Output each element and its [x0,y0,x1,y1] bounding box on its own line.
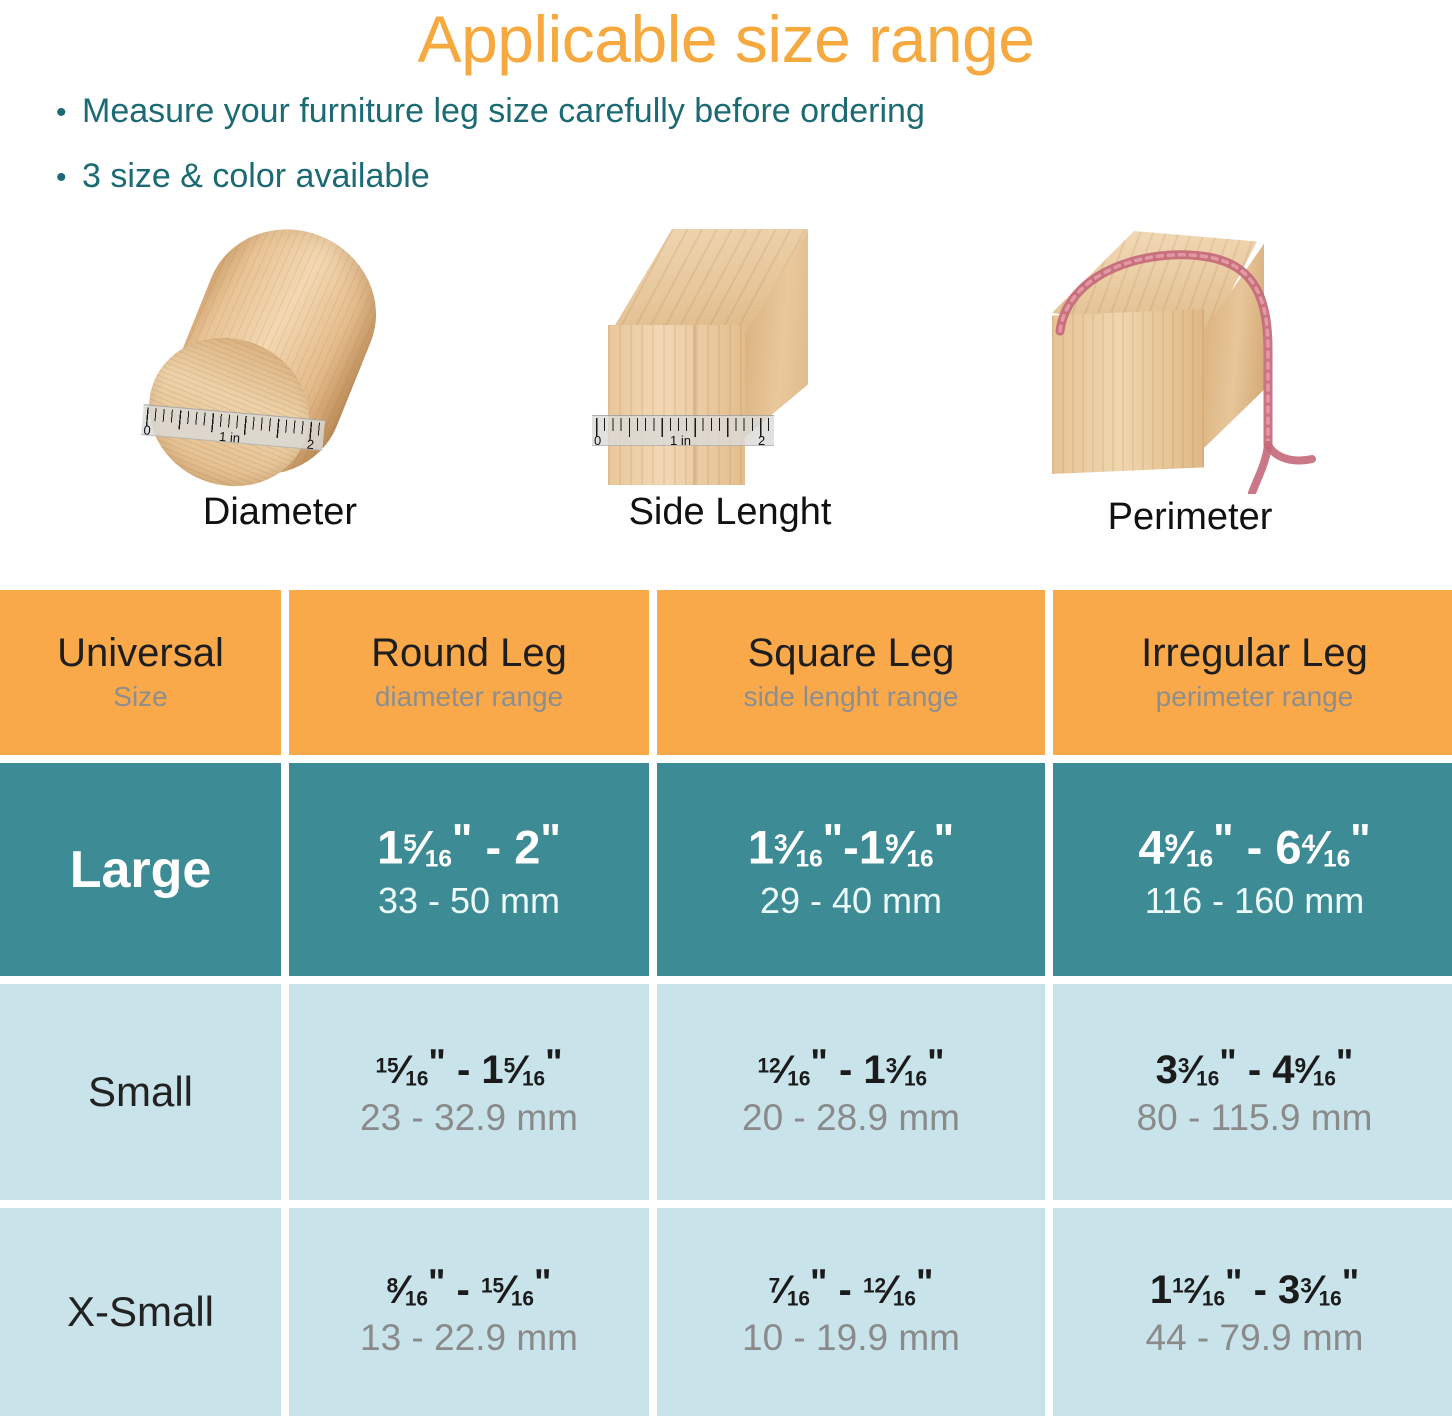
wood-cylinder-icon: 0 1 in 2 [130,219,430,489]
bullet-text: 3 size & color available [82,155,430,198]
bullet-item: • Measure your furniture leg size carefu… [56,90,1452,133]
value-inches: 33⁄16" - 49⁄16" [1156,1044,1354,1091]
header-sub: Size [113,679,167,714]
table-cell-small-round: 15⁄16" - 15⁄16" 23 - 32.9 mm [289,984,649,1200]
measurement-figures: 0 1 in 2 Diameter 0 1 in 2 [0,219,1452,559]
header-sub: side lenght range [744,679,959,714]
header-main: Irregular Leg [1141,631,1368,675]
header-main: Square Leg [748,631,955,675]
wood-square-block-icon: 0 1 in 2 [580,219,880,489]
table-cell-xsmall-irregular: 112⁄16" - 33⁄16" 44 - 79.9 mm [1053,1208,1452,1416]
header-sub: perimeter range [1156,679,1354,714]
size-label: X-Small [67,1291,214,1333]
value-mm: 13 - 22.9 mm [360,1317,578,1360]
table-header-square-leg: Square Leg side lenght range [657,590,1045,755]
figure-label-side-length: Side Lenght [560,493,900,531]
ruler-tick-label: 2 [758,434,765,447]
table-cell-xsmall-square: 7⁄16" - 12⁄16" 10 - 19.9 mm [657,1208,1045,1416]
table-row-small-size-label: Small [0,984,281,1200]
infographic-page: Applicable size range • Measure your fur… [0,0,1452,1420]
figure-perimeter: Perimeter [1020,209,1360,536]
bullet-dot-icon: • [56,98,82,128]
header-sub: diameter range [375,679,563,714]
value-inches: 15⁄16" - 15⁄16" [375,1044,562,1091]
table-row-xsmall-size-label: X-Small [0,1208,281,1416]
value-inches: 49⁄16" - 64⁄16" [1138,818,1370,872]
table-cell-large-round: 15⁄16" - 2" 33 - 50 mm [289,763,649,976]
page-title: Applicable size range [0,0,1452,72]
value-inches: 8⁄16" - 15⁄16" [387,1264,552,1311]
ruler-tick-label: 0 [594,434,601,447]
bullet-item: • 3 size & color available [56,155,1452,198]
ruler-tick-label: 2 [306,438,314,452]
ruler-tick-label: 1 in [670,434,691,447]
value-inches: 12⁄16" - 13⁄16" [757,1044,944,1091]
table-header-irregular-leg: Irregular Leg perimeter range [1053,590,1452,755]
block-front-face [608,325,745,485]
header-main: Universal [57,631,224,675]
bullet-text: Measure your furniture leg size carefull… [82,90,925,133]
ruler-tick-label: 1 in [219,430,241,445]
table-row-large-size-label: Large [0,763,281,976]
value-inches: 15⁄16" - 2" [377,818,561,872]
size-range-table: Universal Size Round Leg diameter range … [0,590,1452,1416]
bullet-list: • Measure your furniture leg size carefu… [0,90,1452,197]
figure-diameter: 0 1 in 2 Diameter [110,219,450,531]
value-mm: 80 - 115.9 mm [1137,1097,1373,1140]
ruler-icon: 0 1 in 2 [592,415,774,446]
value-mm: 23 - 32.9 mm [360,1097,578,1140]
wood-irregular-block-icon [1030,209,1350,494]
value-mm: 44 - 79.9 mm [1146,1317,1364,1360]
value-inches: 13⁄16"-19⁄16" [748,818,954,872]
table-header-round-leg: Round Leg diameter range [289,590,649,755]
value-inches: 7⁄16" - 12⁄16" [769,1264,934,1311]
ruler-tick-label: 0 [143,423,151,437]
value-mm: 20 - 28.9 mm [742,1097,960,1140]
table-cell-small-square: 12⁄16" - 13⁄16" 20 - 28.9 mm [657,984,1045,1200]
table-cell-large-irregular: 49⁄16" - 64⁄16" 116 - 160 mm [1053,763,1452,976]
size-label: Large [70,844,212,896]
table-cell-large-square: 13⁄16"-19⁄16" 29 - 40 mm [657,763,1045,976]
size-label: Small [88,1071,193,1113]
table-header-universal-size: Universal Size [0,590,281,755]
value-mm: 116 - 160 mm [1145,880,1364,921]
value-inches: 112⁄16" - 33⁄16" [1150,1264,1359,1311]
measuring-string-icon [1030,209,1350,494]
figure-side-length: 0 1 in 2 Side Lenght [560,219,900,531]
table-cell-small-irregular: 33⁄16" - 49⁄16" 80 - 115.9 mm [1053,984,1452,1200]
value-mm: 10 - 19.9 mm [742,1317,960,1360]
figure-label-diameter: Diameter [110,493,450,531]
value-mm: 33 - 50 mm [378,880,560,921]
value-mm: 29 - 40 mm [760,880,942,921]
figure-label-perimeter: Perimeter [1020,498,1360,536]
table-cell-xsmall-round: 8⁄16" - 15⁄16" 13 - 22.9 mm [289,1208,649,1416]
header-main: Round Leg [371,631,567,675]
bullet-dot-icon: • [56,163,82,193]
